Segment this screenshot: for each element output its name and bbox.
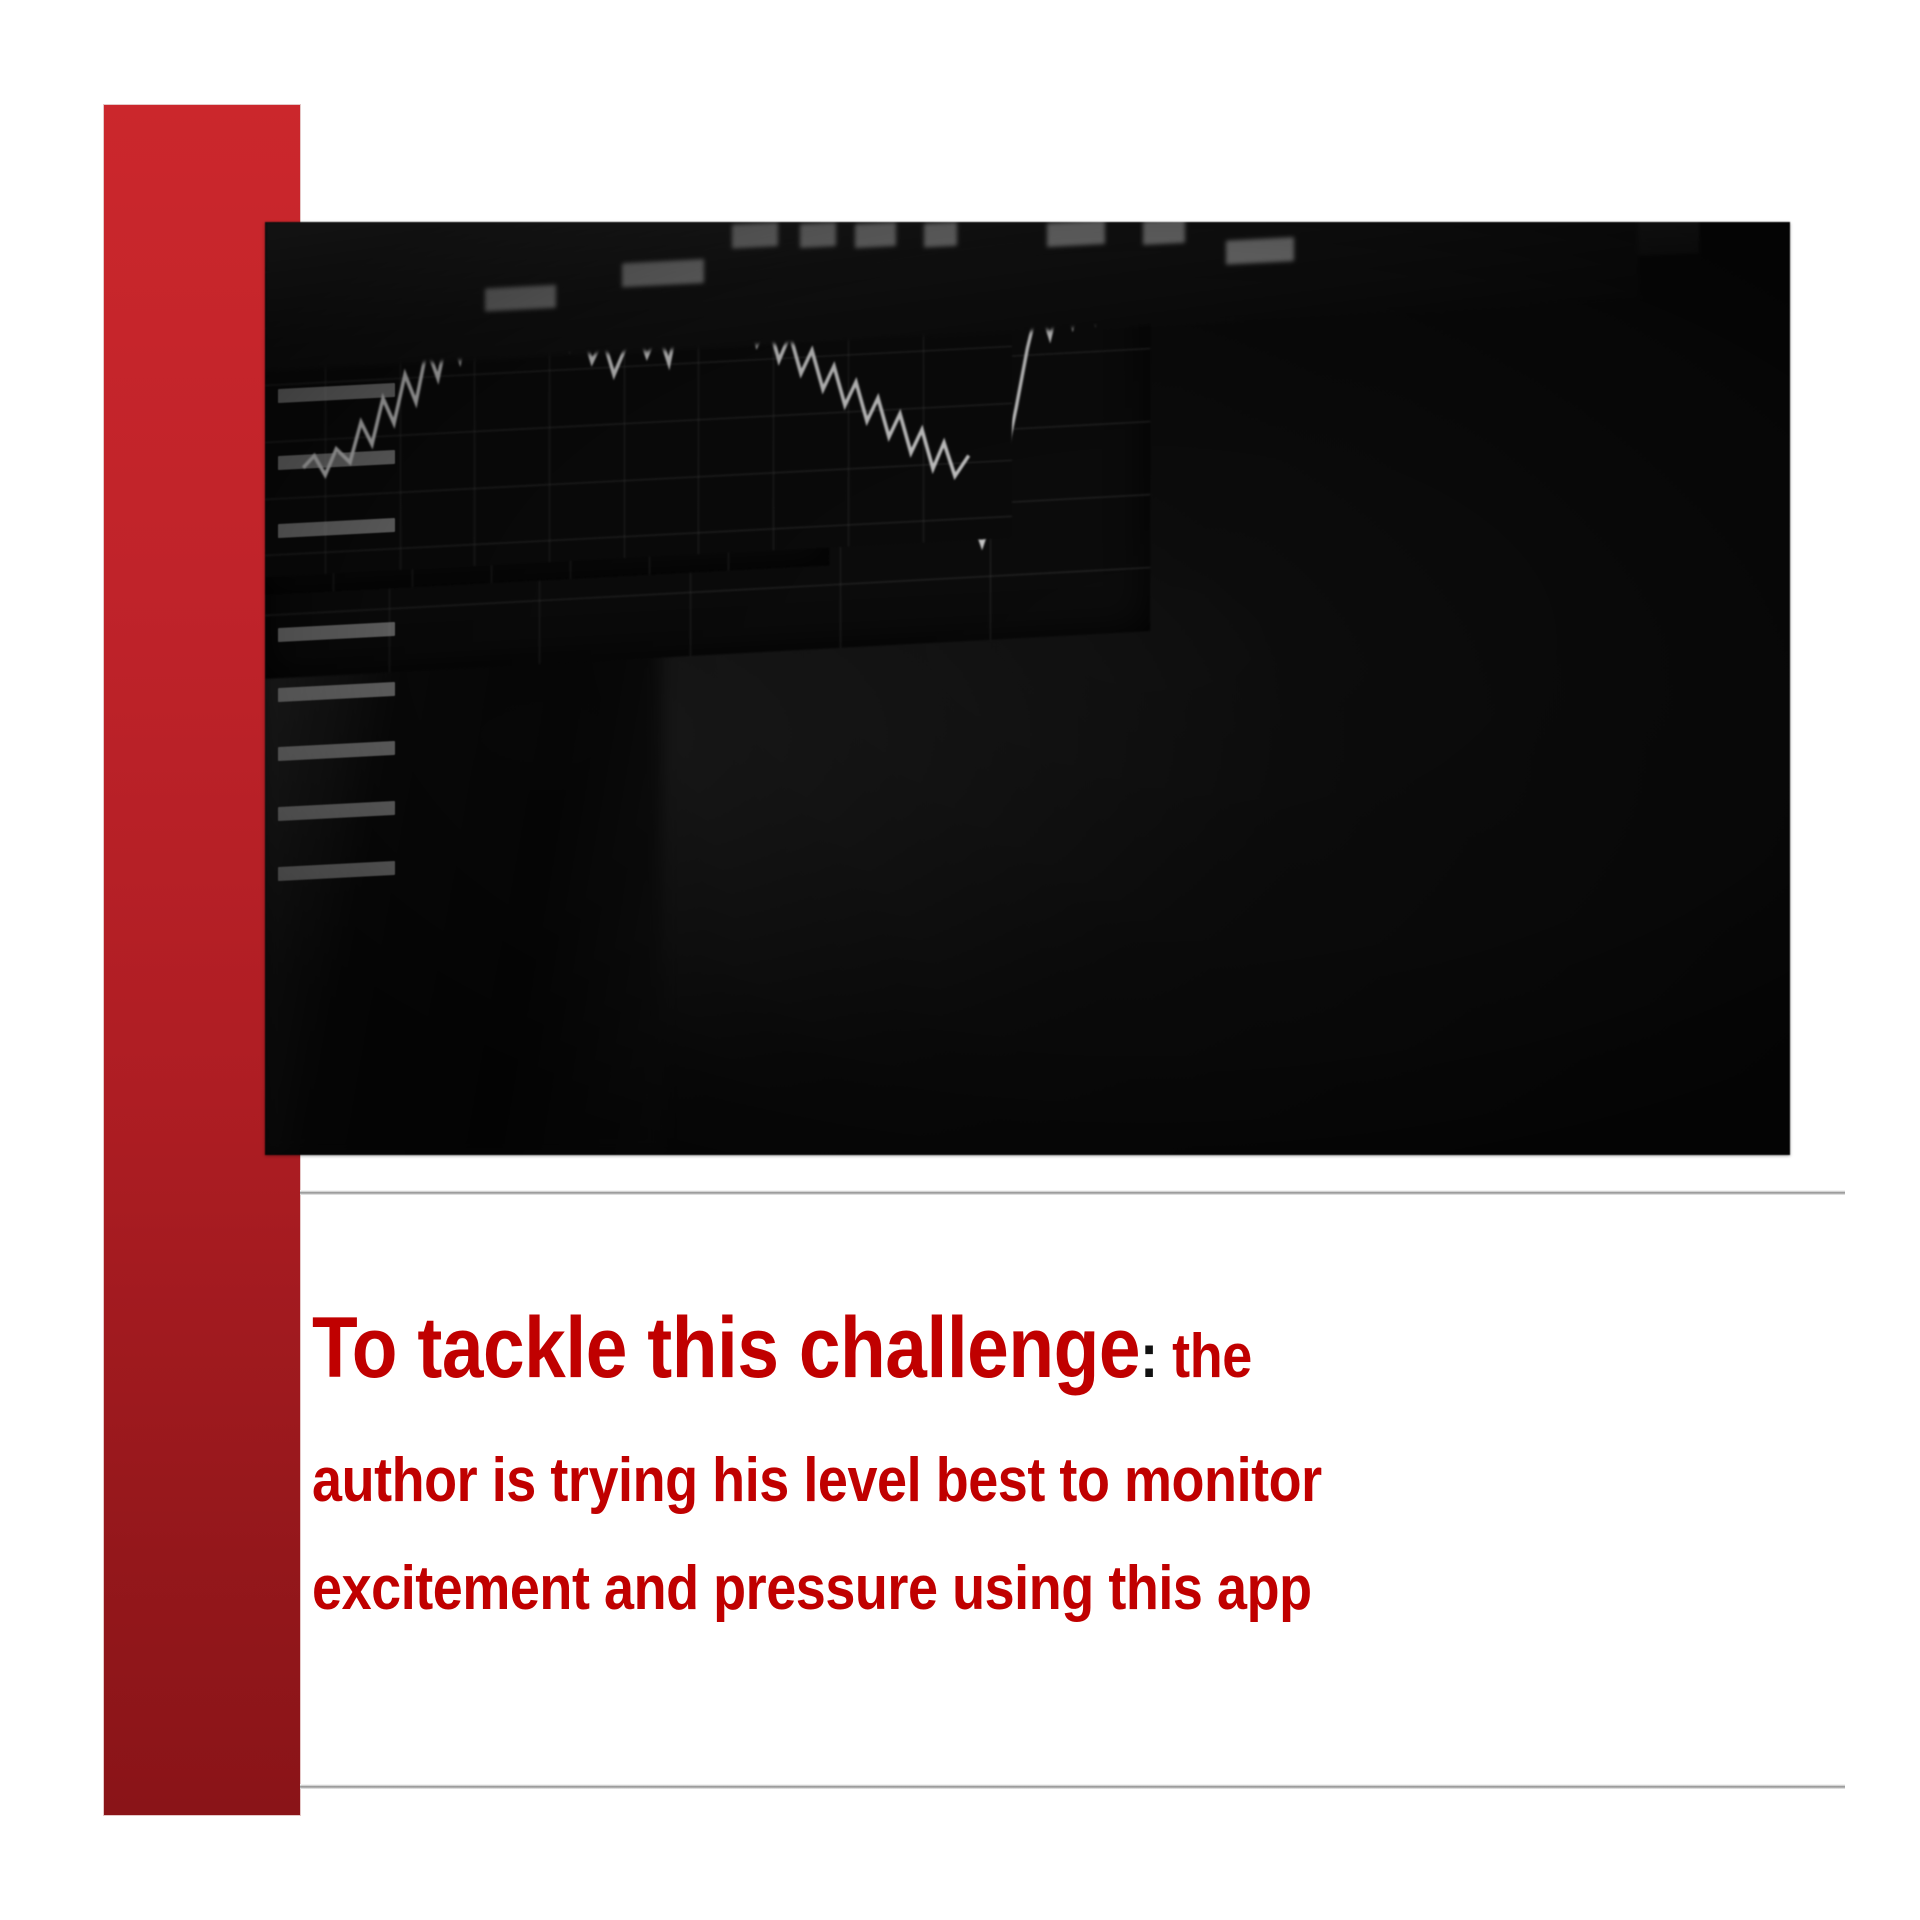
body-line-3: excitement and pressure using this app [312, 1535, 1582, 1643]
body-line-2: author is trying his level best to monit… [312, 1427, 1582, 1535]
slide-canvas: To tackle this challenge: the author is … [0, 0, 1920, 1920]
divider-bottom [300, 1784, 1845, 1789]
heading-colon: : [1140, 1322, 1158, 1391]
photo-vignette [265, 222, 1790, 1155]
heading-tail: the [1158, 1322, 1252, 1391]
heading-line: To tackle this challenge: the [312, 1300, 1582, 1405]
divider-top [300, 1190, 1845, 1195]
body-text-block: To tackle this challenge: the author is … [312, 1300, 1772, 1643]
heading-lead: To tackle this challenge [312, 1300, 1140, 1396]
trading-terminal-photo [265, 222, 1790, 1155]
